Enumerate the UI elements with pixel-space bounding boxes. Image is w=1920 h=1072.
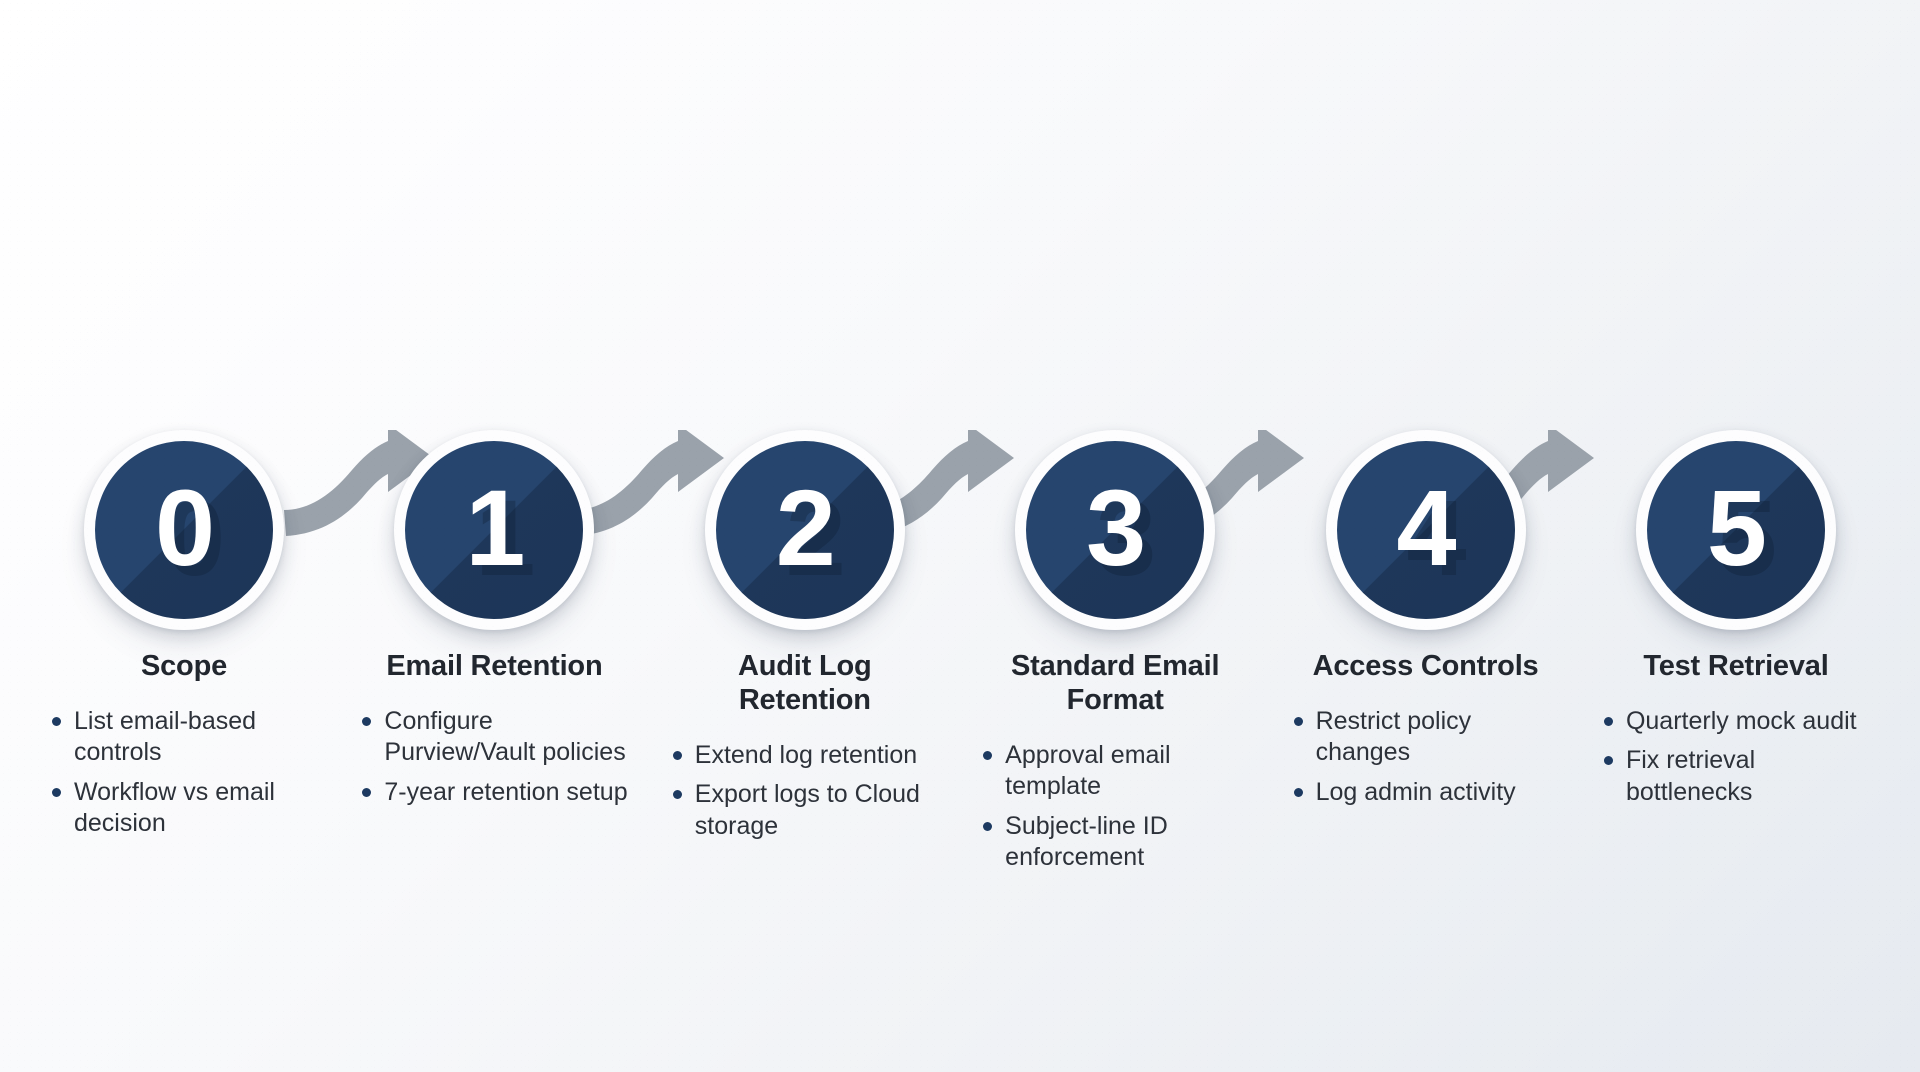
bullet-dot-icon bbox=[52, 788, 61, 797]
bullet-dot-icon bbox=[1604, 717, 1613, 726]
bullet-dot-icon bbox=[1294, 717, 1303, 726]
step-number-3: 3 bbox=[1086, 474, 1144, 582]
step-badge-2[interactable]: 2 bbox=[705, 430, 905, 630]
bullet-text: Restrict policy changes bbox=[1316, 707, 1472, 767]
step-number-1: 1 bbox=[465, 474, 523, 582]
infographic-canvas: 0 Scope List email-based controls Workfl… bbox=[0, 0, 1920, 1072]
bullet-dot-icon bbox=[1604, 756, 1613, 765]
list-item: Restrict policy changes bbox=[1288, 706, 1570, 769]
step-bullets-4: Restrict policy changes Log admin activi… bbox=[1282, 706, 1570, 817]
step-bullets-5: Quarterly mock audit Fix retrieval bottl… bbox=[1592, 706, 1880, 817]
step-bullets-2: Extend log retention Export logs to Clou… bbox=[661, 740, 949, 851]
bullet-dot-icon bbox=[362, 788, 371, 797]
process-step-0[interactable]: 0 Scope List email-based controls Workfl… bbox=[40, 430, 328, 848]
list-item: Approval email template bbox=[977, 740, 1259, 803]
bullet-text: Subject-line ID enforcement bbox=[1005, 812, 1168, 872]
step-bullets-3: Approval email template Subject-line ID … bbox=[971, 740, 1259, 882]
step-title-3: Standard Email Format bbox=[990, 650, 1240, 718]
step-badge-0[interactable]: 0 bbox=[84, 430, 284, 630]
list-item: Fix retrieval bottlenecks bbox=[1598, 745, 1880, 808]
step-title-5: Test Retrieval bbox=[1643, 650, 1828, 684]
bullet-text: Configure Purview/Vault policies bbox=[384, 707, 625, 767]
bullet-dot-icon bbox=[362, 717, 371, 726]
step-number-0: 0 bbox=[155, 474, 213, 582]
list-item: Configure Purview/Vault policies bbox=[356, 706, 638, 769]
bullet-text: Log admin activity bbox=[1316, 778, 1516, 806]
bullet-text: Workflow vs email decision bbox=[74, 778, 275, 838]
step-bullets-0: List email-based controls Workflow vs em… bbox=[40, 706, 328, 848]
list-item: Subject-line ID enforcement bbox=[977, 811, 1259, 874]
step-badge-3[interactable]: 3 bbox=[1015, 430, 1215, 630]
step-title-2: Audit Log Retention bbox=[680, 650, 930, 718]
badge-circle-0: 0 bbox=[95, 441, 273, 619]
step-badge-5[interactable]: 5 bbox=[1636, 430, 1836, 630]
step-badge-4[interactable]: 4 bbox=[1326, 430, 1526, 630]
bullet-dot-icon bbox=[673, 751, 682, 760]
list-item: Extend log retention bbox=[667, 740, 949, 772]
list-item: Quarterly mock audit bbox=[1598, 706, 1880, 738]
list-item: List email-based controls bbox=[46, 706, 328, 769]
badge-circle-4: 4 bbox=[1337, 441, 1515, 619]
bullet-text: Quarterly mock audit bbox=[1626, 707, 1857, 735]
list-item: Log admin activity bbox=[1288, 777, 1570, 809]
step-number-5: 5 bbox=[1707, 474, 1765, 582]
bullet-text: 7-year retention setup bbox=[384, 778, 627, 806]
bullet-text: Export logs to Cloud storage bbox=[695, 780, 920, 840]
process-step-4[interactable]: 4 Access Controls Restrict policy change… bbox=[1282, 430, 1570, 816]
bullet-dot-icon bbox=[983, 822, 992, 831]
bullet-dot-icon bbox=[983, 751, 992, 760]
step-number-4: 4 bbox=[1397, 474, 1455, 582]
step-bullets-1: Configure Purview/Vault policies 7-year … bbox=[350, 706, 638, 817]
badge-circle-2: 2 bbox=[716, 441, 894, 619]
bullet-dot-icon bbox=[673, 790, 682, 799]
step-badge-1[interactable]: 1 bbox=[394, 430, 594, 630]
process-step-2[interactable]: 2 Audit Log Retention Extend log retenti… bbox=[661, 430, 949, 850]
process-step-5[interactable]: 5 Test Retrieval Quarterly mock audit Fi… bbox=[1592, 430, 1880, 816]
process-steps-row: 0 Scope List email-based controls Workfl… bbox=[40, 430, 1880, 882]
badge-circle-5: 5 bbox=[1647, 441, 1825, 619]
bullet-text: Approval email template bbox=[1005, 741, 1170, 801]
step-title-4: Access Controls bbox=[1313, 650, 1539, 684]
bullet-text: List email-based controls bbox=[74, 707, 256, 767]
list-item: Export logs to Cloud storage bbox=[667, 779, 949, 842]
bullet-text: Fix retrieval bottlenecks bbox=[1626, 746, 1755, 806]
list-item: Workflow vs email decision bbox=[46, 777, 328, 840]
process-step-3[interactable]: 3 Standard Email Format Approval email t… bbox=[971, 430, 1259, 882]
process-step-1[interactable]: 1 Email Retention Configure Purview/Vaul… bbox=[350, 430, 638, 816]
step-title-0: Scope bbox=[141, 650, 227, 684]
badge-circle-1: 1 bbox=[405, 441, 583, 619]
bullet-text: Extend log retention bbox=[695, 741, 917, 769]
list-item: 7-year retention setup bbox=[356, 777, 638, 809]
badge-circle-3: 3 bbox=[1026, 441, 1204, 619]
bullet-dot-icon bbox=[52, 717, 61, 726]
bullet-dot-icon bbox=[1294, 788, 1303, 797]
step-number-2: 2 bbox=[776, 474, 834, 582]
step-title-1: Email Retention bbox=[386, 650, 602, 684]
